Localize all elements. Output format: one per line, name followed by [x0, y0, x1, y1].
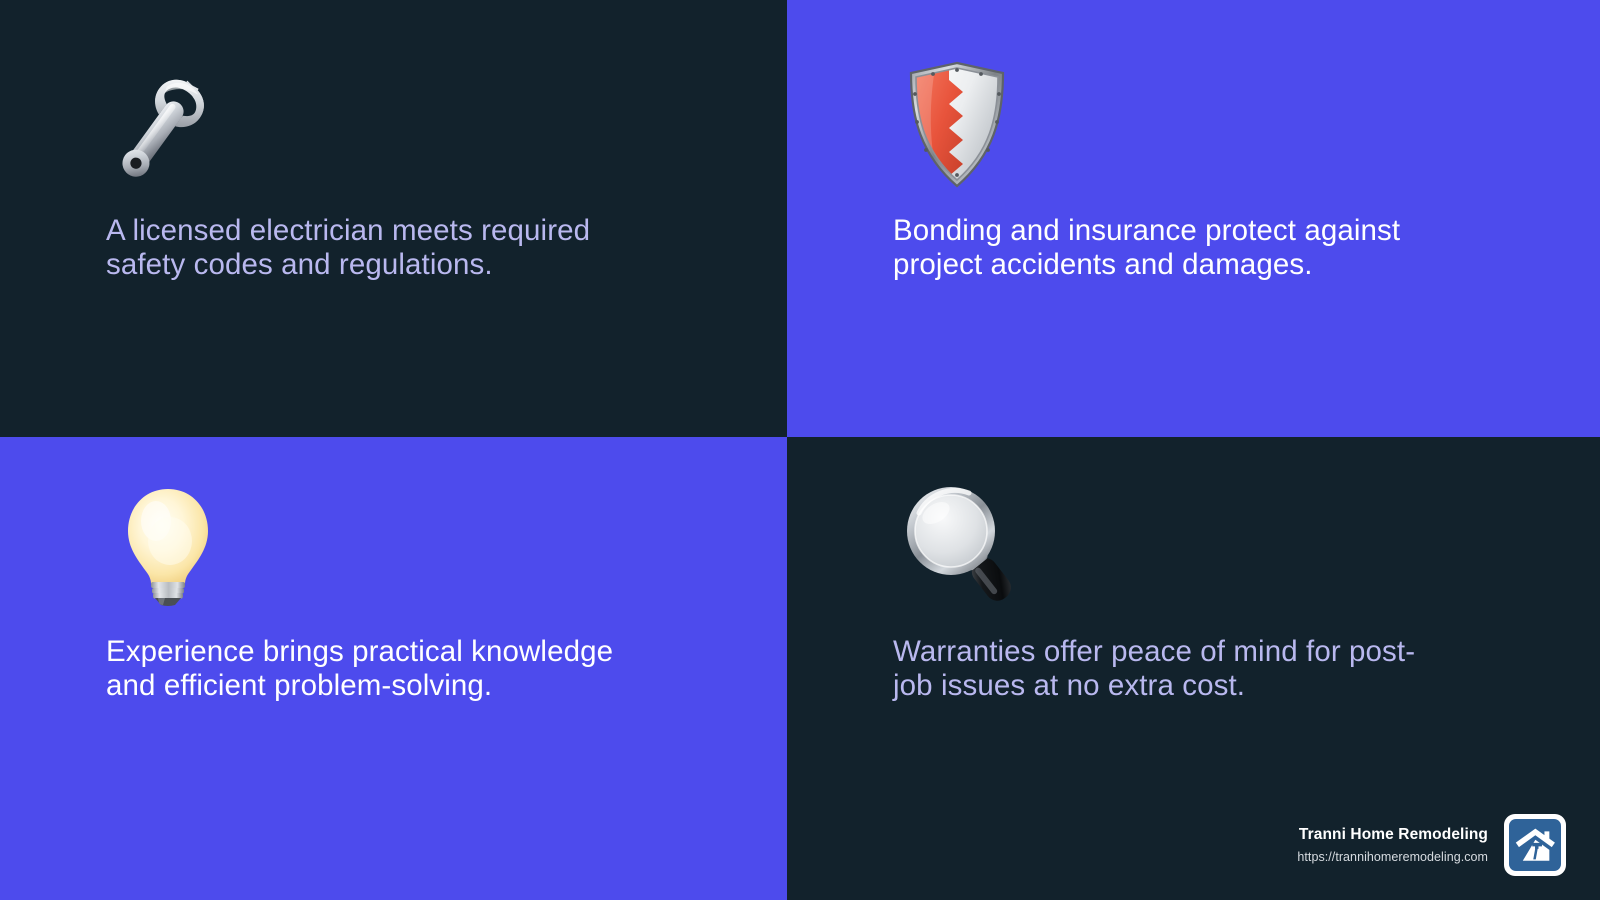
brand-url[interactable]: https://trannihomeremodeling.com — [1297, 850, 1488, 864]
brand-text-block: Tranni Home Remodeling https://trannihom… — [1297, 826, 1488, 864]
infographic-board: A licensed electrician meets required sa… — [0, 0, 1600, 900]
panel-caption: Warranties offer peace of mind for post-… — [893, 635, 1493, 702]
brand-logo[interactable] — [1504, 814, 1566, 876]
shield-icon — [905, 60, 1009, 190]
panel-experience: Experience brings practical knowledge an… — [0, 437, 787, 900]
brand-name: Tranni Home Remodeling — [1299, 826, 1488, 844]
panel-caption: A licensed electrician meets required sa… — [106, 214, 686, 281]
brand-watermark: Tranni Home Remodeling https://trannihom… — [1297, 814, 1566, 876]
panel-caption: Bonding and insurance protect against pr… — [893, 214, 1503, 281]
panel-bonding-insurance: Bonding and insurance protect against pr… — [787, 0, 1600, 437]
wrench-icon — [98, 62, 228, 190]
light-bulb-icon — [118, 485, 218, 607]
house-with-hammer-icon — [1509, 819, 1561, 871]
panel-licensed-electrician: A licensed electrician meets required sa… — [0, 0, 787, 437]
panel-caption: Experience brings practical knowledge an… — [106, 635, 706, 702]
magnifying-glass-icon — [891, 479, 1023, 609]
